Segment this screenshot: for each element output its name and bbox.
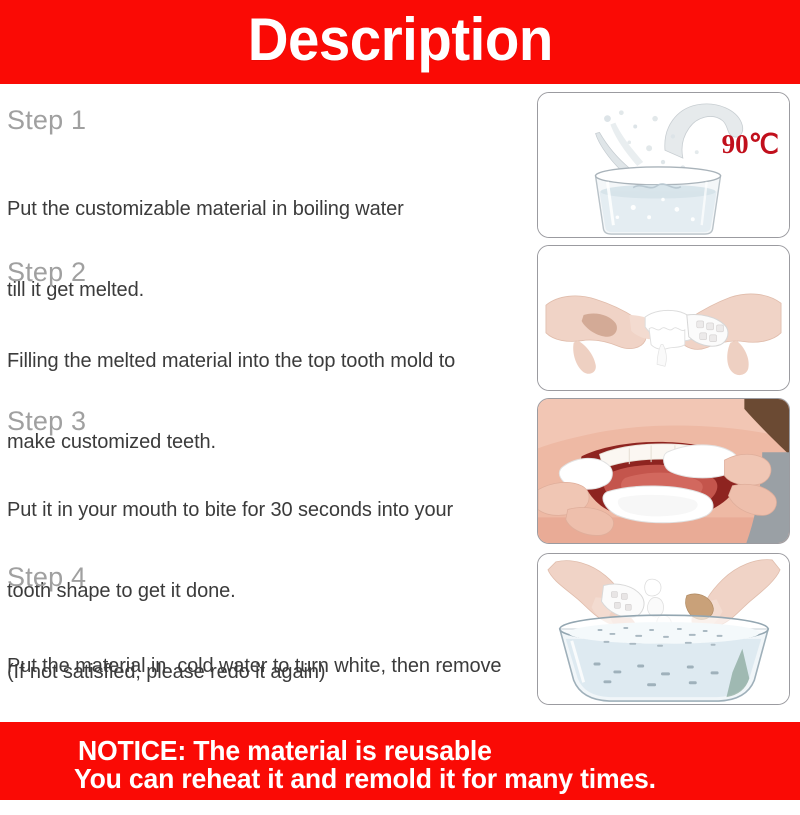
page-title: Description bbox=[247, 10, 552, 74]
notice-banner: NOTICE: The material is reusable You can… bbox=[0, 722, 800, 800]
notice-line-2: You can reheat it and remold it for many… bbox=[74, 764, 656, 794]
header-banner: Description bbox=[0, 0, 800, 84]
cold-water-bowl-photo bbox=[537, 553, 790, 705]
step-body-line: Put the material in cold water to turn w… bbox=[7, 653, 532, 680]
step-body-line: Put it in your mouth to bite for 30 seco… bbox=[7, 497, 532, 524]
step-body-line: Filling the melted material into the top… bbox=[7, 348, 532, 375]
boiling-water-glass-photo: 90℃ bbox=[537, 92, 790, 238]
step-heading-3: Step 3 bbox=[7, 405, 532, 437]
hands-filling-tooth-mold-photo bbox=[537, 245, 790, 391]
temperature-label: 90℃ bbox=[722, 131, 779, 158]
cold-water-bowl-illustration bbox=[538, 554, 789, 704]
boiling-water-illustration bbox=[538, 93, 789, 237]
photos-column: 90℃ bbox=[537, 84, 792, 722]
step-heading-1: Step 1 bbox=[7, 104, 532, 136]
step-heading-2: Step 2 bbox=[7, 256, 532, 288]
step-heading-4: Step 4 bbox=[7, 561, 532, 593]
mouth-veneer-illustration bbox=[538, 399, 789, 543]
mouth-biting-veneer-photo bbox=[537, 398, 790, 544]
step-body-line: Put the customizable material in boiling… bbox=[7, 196, 532, 223]
steps-column: Step 1 Put the customizable material in … bbox=[7, 84, 532, 722]
hands-mold-illustration bbox=[538, 246, 789, 390]
notice-line-1: NOTICE: The material is reusable bbox=[78, 736, 492, 766]
instructions-content: Step 1 Put the customizable material in … bbox=[0, 84, 800, 722]
